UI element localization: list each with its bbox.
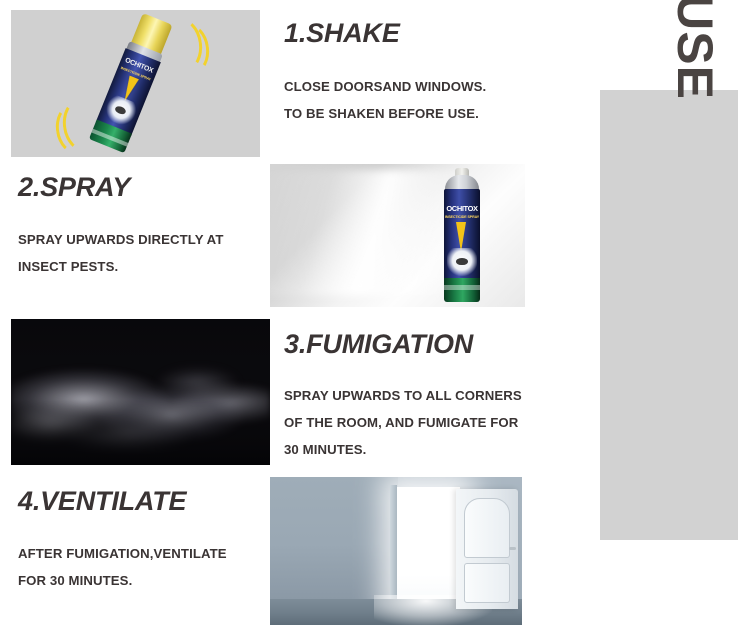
step-ventilate-body: AFTER FUMIGATION,VENTILATE FOR 30 MINUTE…	[18, 540, 227, 594]
step-fumigation-line-2: OF THE ROOM, AND FUMIGATE FOR	[284, 409, 522, 436]
step-ventilate-title: 4.VENTILATE	[18, 488, 186, 515]
step-fumigation-body: SPRAY UPWARDS TO ALL CORNERS OF THE ROOM…	[284, 382, 522, 463]
door-inset-top	[464, 498, 510, 558]
step-fumigation-line-1: SPRAY UPWARDS TO ALL CORNERS	[284, 382, 522, 409]
can-base	[444, 278, 480, 302]
aerosol-can-graphic: OCHITOX INSECTICIDE SPRAY	[440, 168, 484, 304]
spray-mist-graphic	[270, 170, 460, 296]
door-jamb	[390, 485, 397, 609]
can-base-stripe	[444, 285, 480, 290]
step-ventilate-line-2: FOR 30 MINUTES.	[18, 567, 227, 594]
insect-icon	[456, 258, 468, 265]
direct-of-use-banner: DIRECT OF USE	[600, 90, 738, 540]
door-handle-icon	[509, 547, 516, 550]
smoke-vignette	[11, 319, 270, 465]
step-spray-body: SPRAY UPWARDS DIRECTLY AT INSECT PESTS.	[18, 226, 223, 280]
step-spray-line-1: SPRAY UPWARDS DIRECTLY AT	[18, 226, 223, 253]
step-fumigation-title: 3.FUMIGATION	[284, 331, 473, 358]
step-shake-line-2: TO BE SHAKEN BEFORE USE.	[284, 100, 486, 127]
step-ventilate-line-1: AFTER FUMIGATION,VENTILATE	[18, 540, 227, 567]
step-shake-body: CLOSE DOORSAND WINDOWS. TO BE SHAKEN BEF…	[284, 73, 486, 127]
can-subtitle-label: INSECTICIDE SPRAY	[444, 215, 480, 219]
banner-title: DIRECT OF USE	[670, 0, 720, 100]
door-inset-bottom	[464, 563, 510, 603]
step-fumigation-line-3: 30 MINUTES.	[284, 436, 522, 463]
can-brand-label: OCHITOX	[444, 204, 480, 213]
instructions-infographic: OCHITOX INSECTICIDE SPRAY 1.SHAKE CLOSE …	[0, 0, 750, 633]
aerosol-can-graphic: OCHITOX INSECTICIDE SPRAY	[87, 11, 178, 155]
step-spray-image: OCHITOX INSECTICIDE SPRAY	[270, 164, 525, 307]
daylight-glow	[396, 487, 460, 609]
wall-left	[270, 477, 398, 599]
step-spray-line-2: INSECT PESTS.	[18, 253, 223, 280]
step-fumigation-image	[11, 319, 270, 465]
step-spray-title: 2.SPRAY	[18, 174, 130, 201]
step-shake-line-1: CLOSE DOORSAND WINDOWS.	[284, 73, 486, 100]
step-shake-image: OCHITOX INSECTICIDE SPRAY	[11, 10, 260, 157]
open-door-graphic	[456, 489, 518, 609]
step-ventilate-image	[270, 477, 522, 625]
banner-text-wrap: DIRECT OF USE	[620, 90, 720, 540]
step-shake-title: 1.SHAKE	[284, 20, 400, 47]
